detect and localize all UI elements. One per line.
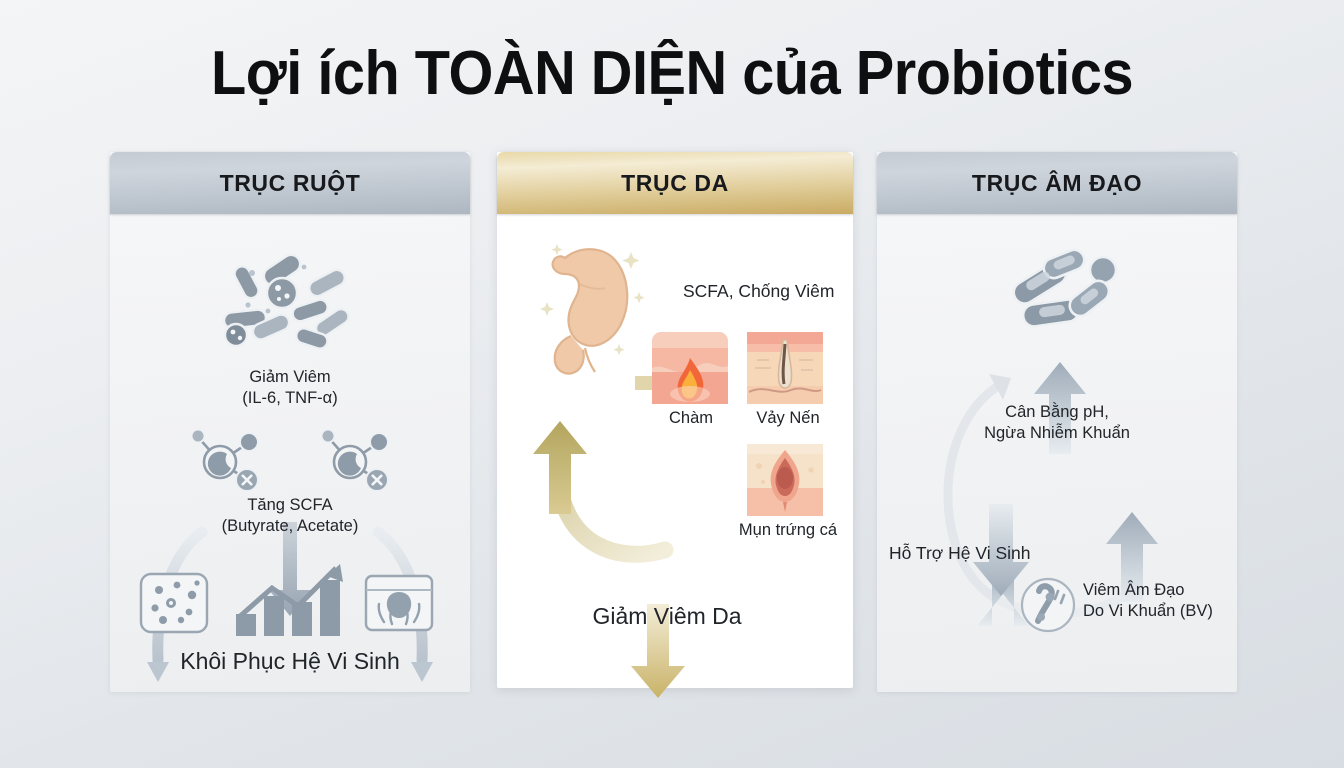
vaginal-item-2-label: Hỗ Trợ Hệ Vi Sinh [889,542,1109,564]
skin-item-acne-label: Mụn trứng cá [725,520,851,541]
card-header-gut: TRỤC RUỘT [110,152,470,214]
acne-icon [747,444,823,516]
bacteria-cluster-icon [218,257,368,362]
skin-item-scfa-label: SCFA, Chống Viêm [683,280,863,302]
molecule-icon-left [180,427,270,493]
card-header-skin-label: TRỤC DA [621,170,729,197]
eczema-icon [652,332,728,404]
stomach-icon [535,240,655,390]
microbiome-box-icon [137,570,211,636]
lactobacillus-icon [1005,248,1135,338]
vaginal-item-3-label: Viêm Âm Đạo Do Vi Khuẩn (BV) [1083,580,1253,622]
card-header-vaginal: TRỤC ÂM ĐẠO [877,152,1237,214]
card-vaginal-axis: TRỤC ÂM ĐẠO [877,152,1237,692]
psoriasis-icon [747,332,823,404]
card-header-vaginal-label: TRỤC ÂM ĐẠO [972,170,1142,197]
card-gut-axis: TRỤC RUỘT Giảm Viêm (IL-6, TNF-α) [110,152,470,692]
card-header-gut-label: TRỤC RUỘT [220,170,361,197]
page-title: Lợi ích TOÀN DIỆN của Probiotics [47,38,1297,109]
skin-outcome-label: Giảm Viêm Da [497,602,837,631]
skin-item-psoriasis-label: Vảy Nến [733,408,843,429]
skin-item-eczema-label: Chàm [636,408,746,429]
vaginal-item-1-label: Cân Bằng pH, Ngừa Nhiễm Khuẩn [877,402,1237,444]
growth-chart-icon [228,562,350,640]
gut-item-3-label: Khôi Phục Hệ Vi Sinh [110,647,470,676]
molecule-icon-right [310,427,400,493]
bv-icon [1020,577,1076,633]
card-header-skin: TRỤC DA [497,152,853,214]
gut-item-1-label: Giảm Viêm (IL-6, TNF-α) [110,367,470,409]
card-skin-axis: TRỤC DA [497,152,853,688]
gut-item-2-label: Tăng SCFA (Butyrate, Acetate) [110,495,470,537]
gut-lining-icon [362,570,436,636]
